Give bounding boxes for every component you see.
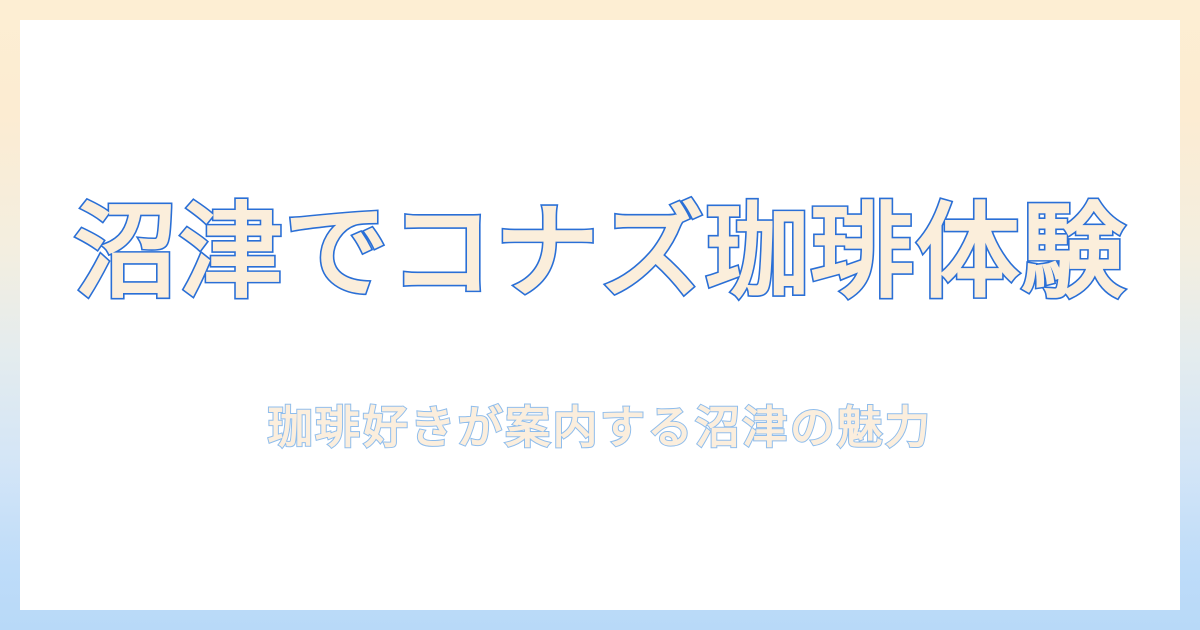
ogp-card: 沼津でコナズ珈琲体験 珈琲好きが案内する沼津の魅力 — [0, 0, 1200, 630]
card-content: 沼津でコナズ珈琲体験 珈琲好きが案内する沼津の魅力 — [20, 20, 1180, 610]
card-inner-surface: 沼津でコナズ珈琲体験 珈琲好きが案内する沼津の魅力 — [20, 20, 1180, 610]
page-subtitle: 珈琲好きが案内する沼津の魅力 — [268, 400, 933, 456]
title-container: 沼津でコナズ珈琲体験 — [20, 192, 1180, 315]
subtitle-container: 珈琲好きが案内する沼津の魅力 — [20, 400, 1180, 456]
page-title: 沼津でコナズ珈琲体験 — [74, 192, 1126, 315]
